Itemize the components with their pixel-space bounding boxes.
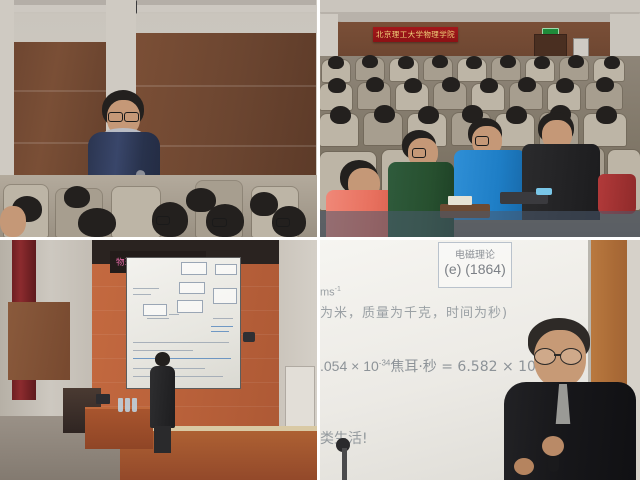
notebook [448, 196, 472, 205]
slide-formula-sup1: -34 [379, 358, 391, 367]
red-backpack [598, 174, 636, 214]
slide-line-1-text: ms [320, 287, 335, 299]
lecturer-suit [150, 366, 175, 428]
slide-line-1-sup: -1 [335, 286, 341, 293]
red-banner: 北京理工大学物理学院 [373, 27, 458, 42]
glasses-left-lens [534, 348, 556, 365]
glasses-right-lens [560, 348, 582, 365]
floor-shadow [320, 211, 640, 237]
ceiling-shadow [0, 0, 317, 5]
lecturer-on-stage [150, 352, 175, 453]
slide-formula-a: .054 × 10 [320, 358, 379, 374]
audience-seating [320, 56, 640, 237]
water-bottles [118, 398, 142, 412]
photo-panel-bottom-right: 电磁理论 (e) (1864) ms-1 为米，质量为千克，时间为秒) .054… [320, 240, 640, 480]
microphone-stand [342, 448, 347, 480]
slide-box-title: 电磁理论 [439, 246, 511, 261]
black-jacket [522, 144, 600, 220]
glasses-left-lens [108, 112, 123, 122]
lecturer-head [155, 352, 170, 366]
blue-pen [536, 188, 552, 195]
slide-line-1: ms-1 [320, 286, 341, 299]
slide-highlight-box: 电磁理论 (e) (1864) [438, 242, 512, 288]
photo-panel-top-right: 北京理工大学物理学院 [320, 0, 640, 237]
wood-panel-right [136, 33, 316, 198]
glasses-icon [412, 148, 426, 158]
lecturer-closeup [498, 318, 640, 480]
glasses-bridge [554, 354, 561, 356]
glasses-right-lens [124, 112, 139, 122]
photo-panel-bottom-left: 物理学院院… [0, 240, 317, 480]
lecturer-legs [154, 426, 171, 453]
photo-panel-top-left [0, 0, 317, 237]
slide-line-2: 为米，质量为千克，时间为秒) [320, 302, 508, 321]
presenter-table [85, 407, 153, 449]
wood-panel [8, 302, 70, 380]
lecturer-right-hand [542, 436, 564, 456]
slide-box-subtitle: (e) (1864) [439, 261, 511, 277]
wall-speaker [243, 332, 255, 342]
glasses-icon [475, 136, 489, 146]
banner-text: 北京理工大学物理学院 [376, 29, 455, 40]
projection-screen [126, 257, 241, 389]
lecturer-left-hand [514, 458, 534, 475]
photo-collage: 北京理工大学物理学院 [0, 0, 640, 480]
laptop [96, 394, 110, 404]
